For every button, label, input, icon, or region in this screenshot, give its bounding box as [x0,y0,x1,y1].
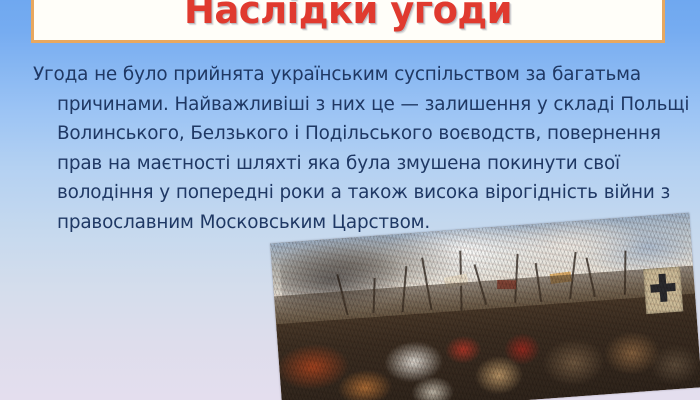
title-box[interactable]: Наслідки угоди [31,0,665,43]
battle-painting [270,213,700,400]
slide: Наслідки угоди Угода не було прийнята ук… [0,0,700,400]
battle-painting-frame[interactable] [270,213,700,400]
page-title: Наслідки угоди [43,0,652,31]
painting-texture [270,213,700,400]
body-paragraph: Угода не було прийнята українським суспі… [33,60,697,238]
